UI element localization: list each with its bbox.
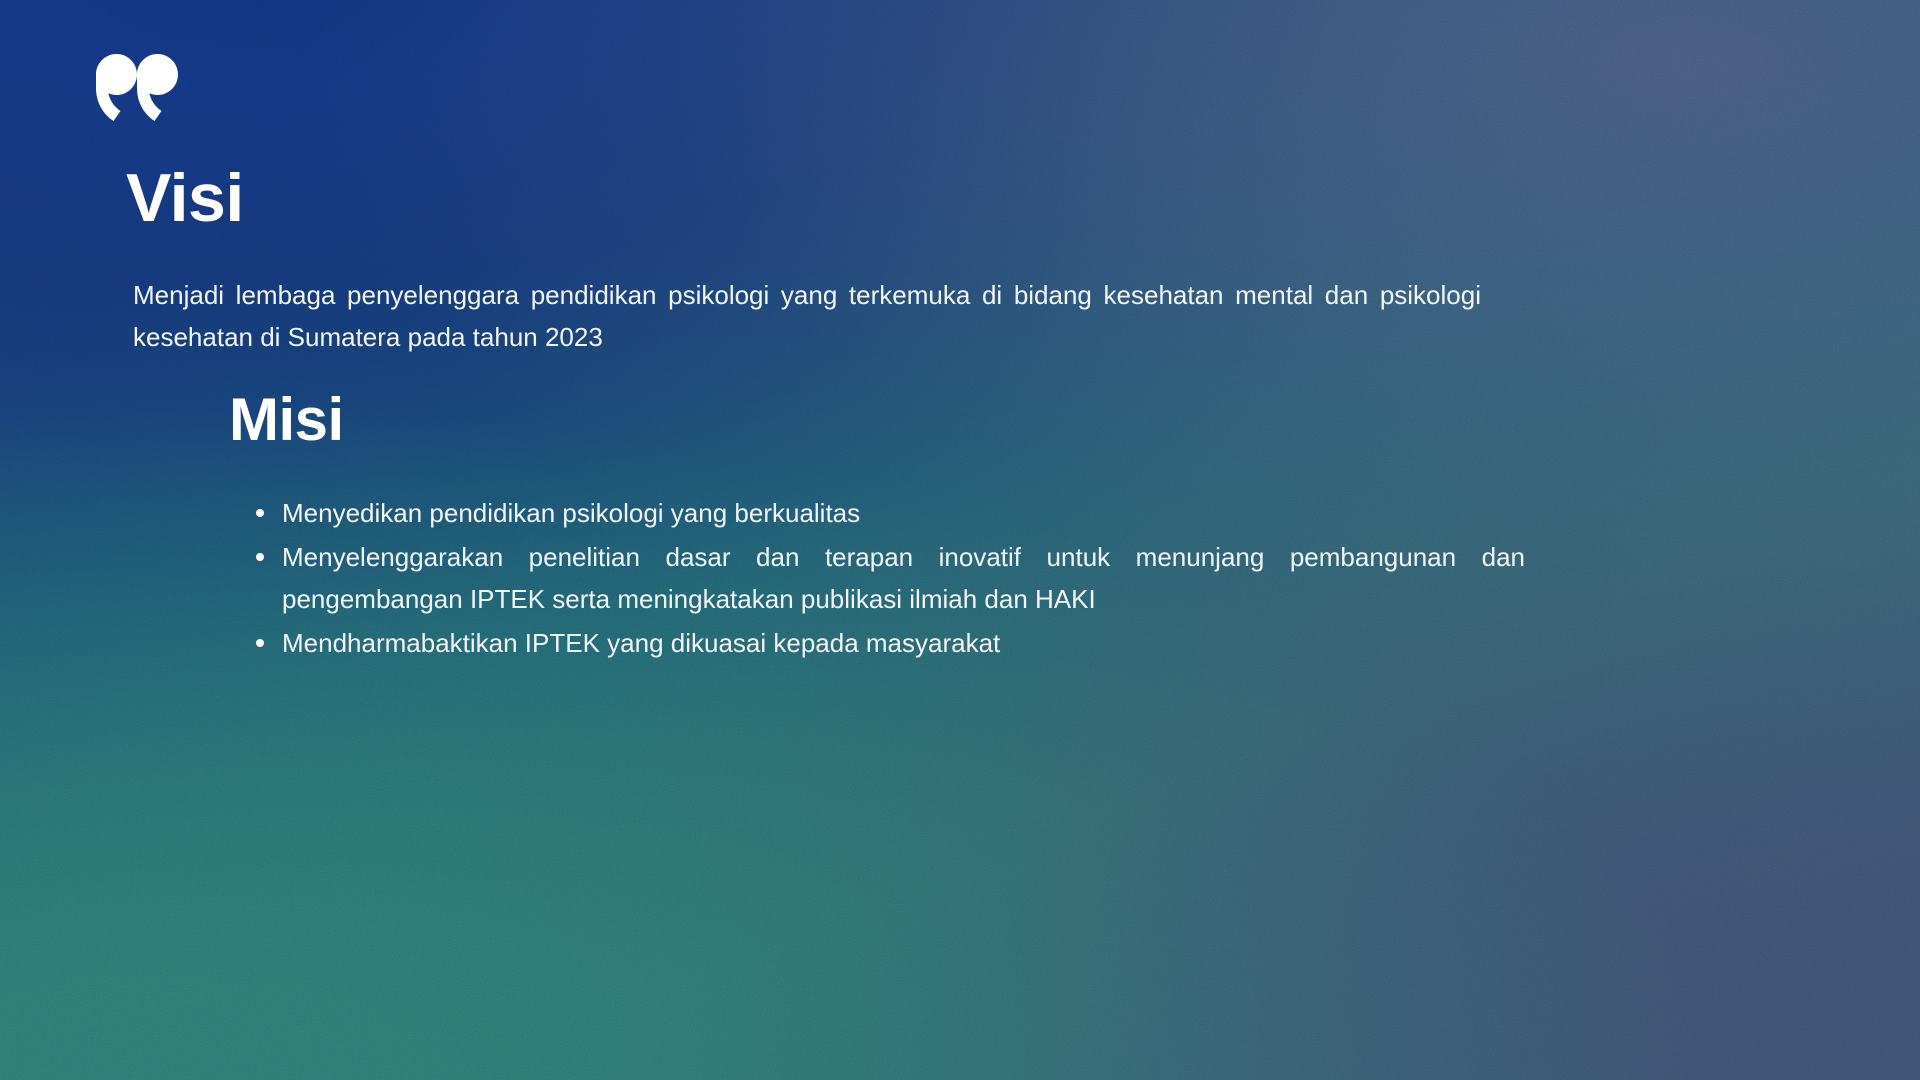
slide-content: Visi Menjadi lembaga penyelenggara pendi… (0, 0, 1920, 1080)
list-item: Mendharmabaktikan IPTEK yang dikuasai ke… (282, 622, 1525, 664)
misi-heading: Misi (229, 388, 344, 451)
slide-canvas: Visi Menjadi lembaga penyelenggara pendi… (0, 0, 1920, 1080)
misi-list: Menyedikan pendidikan psikologi yang ber… (238, 492, 1525, 666)
visi-heading: Visi (126, 163, 244, 234)
list-item: Menyelenggarakan penelitian dasar dan te… (282, 536, 1525, 620)
list-item: Menyedikan pendidikan psikologi yang ber… (282, 492, 1525, 534)
visi-body-text: Menjadi lembaga penyelenggara pendidikan… (133, 274, 1481, 358)
quote-open-icon (92, 52, 182, 142)
